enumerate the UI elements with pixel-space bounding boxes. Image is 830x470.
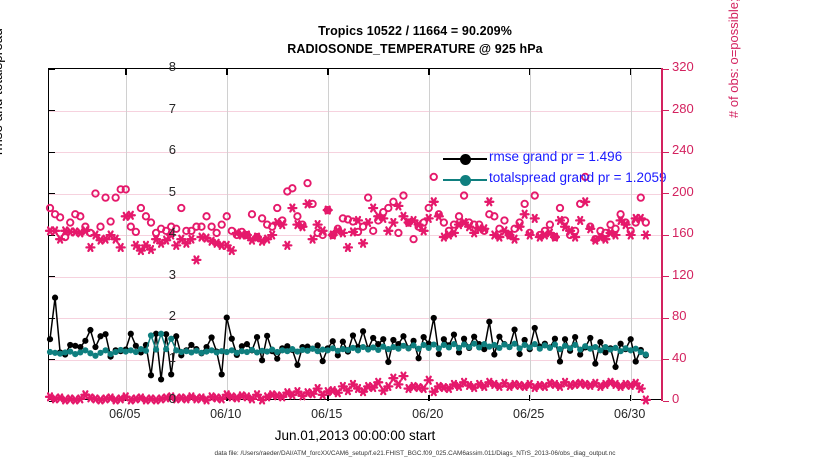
data-point <box>633 346 639 352</box>
obs-possible-marker <box>97 224 103 230</box>
data-point <box>451 332 457 338</box>
obs-possible-marker <box>370 228 376 234</box>
figure-canvas: Tropics 10522 / 11664 = 90.209% RADIOSON… <box>0 0 830 470</box>
data-point <box>572 342 578 348</box>
left-tick-label: 4 <box>169 226 176 239</box>
data-point <box>456 345 462 351</box>
data-point <box>431 341 437 347</box>
right-tick-label: 320 <box>672 60 694 73</box>
data-point <box>315 342 321 348</box>
obs-possible-marker <box>203 213 209 219</box>
obs-asterisk-marker <box>344 244 352 251</box>
data-point <box>380 336 386 342</box>
data-point <box>476 344 482 350</box>
legend-label-totalspread: totalspread grand pr = 1.2059 <box>489 170 667 185</box>
obs-asterisk-marker <box>112 236 120 243</box>
data-point <box>148 332 154 338</box>
obs-possible-marker <box>143 213 149 219</box>
data-point <box>87 327 93 333</box>
obs-asterisk-marker <box>430 198 438 205</box>
data-point <box>552 341 558 347</box>
data-point <box>496 345 502 351</box>
obs-asterisk-marker <box>283 242 291 249</box>
data-point <box>517 351 523 357</box>
data-point <box>355 347 361 353</box>
data-point <box>148 372 154 378</box>
obs-possible-marker <box>547 221 553 227</box>
obs-possible-marker <box>92 190 98 196</box>
data-point <box>77 344 83 350</box>
left-tick-label: 3 <box>169 268 176 281</box>
obs-possible-marker <box>643 219 649 225</box>
obs-possible-marker <box>274 205 280 211</box>
data-point <box>511 327 517 333</box>
obs-asterisk-marker <box>309 236 317 243</box>
right-tick-label: 0 <box>672 392 679 405</box>
obs-possible-marker <box>365 194 371 200</box>
right-tick-label: 80 <box>672 309 686 322</box>
data-point <box>567 345 573 351</box>
right-tick-label: 40 <box>672 351 686 364</box>
data-point <box>158 331 164 337</box>
data-point <box>350 332 356 338</box>
data-point <box>532 325 538 331</box>
obs-possible-marker <box>249 211 255 217</box>
data-series-layer <box>49 69 663 401</box>
data-point <box>92 344 98 350</box>
data-point <box>506 344 512 350</box>
left-axis-title: rmse and totalspread <box>0 28 5 155</box>
data-point <box>557 346 563 352</box>
obs-possible-marker <box>107 218 113 224</box>
data-point <box>491 351 497 357</box>
data-point <box>592 361 598 367</box>
right-tick <box>663 69 669 70</box>
obs-asterisk-marker <box>187 236 195 243</box>
obs-possible-marker <box>138 205 144 211</box>
obs-possible-marker <box>461 192 467 198</box>
data-point <box>612 345 618 351</box>
data-point <box>436 351 442 357</box>
bottom-tick-label: 06/30 <box>595 408 665 421</box>
obs-asterisk-marker <box>384 383 392 390</box>
data-point <box>471 341 477 347</box>
series-assimilated <box>46 198 650 263</box>
data-point <box>587 335 593 341</box>
data-point <box>102 347 108 353</box>
obs-possible-marker <box>385 205 391 211</box>
obs-asterisk-marker <box>359 240 367 247</box>
bottom-tick-label: 06/05 <box>90 408 160 421</box>
data-point <box>102 331 108 337</box>
data-point <box>461 336 467 342</box>
bottom-tick-label: 06/15 <box>292 408 362 421</box>
plot-area: rmse grand pr = 1.496 totalspread grand … <box>48 68 662 400</box>
data-point <box>426 345 432 351</box>
obs-possible-marker <box>224 213 230 219</box>
obs-possible-marker <box>47 205 53 211</box>
data-point <box>82 338 88 344</box>
legend-marker-totalspread <box>460 175 471 186</box>
obs-asterisk-marker <box>521 211 529 218</box>
right-tick <box>663 193 669 194</box>
obs-possible-marker <box>410 236 416 242</box>
data-point <box>208 334 214 340</box>
data-point <box>446 344 452 350</box>
data-point <box>168 336 174 342</box>
left-tick-label: 0 <box>169 392 176 405</box>
data-point <box>511 341 517 347</box>
left-tick-label: 6 <box>169 143 176 156</box>
obs-possible-marker <box>57 214 63 220</box>
data-point <box>557 358 563 364</box>
data-point <box>244 341 250 347</box>
obs-possible-marker <box>102 194 108 200</box>
data-point <box>643 351 649 357</box>
data-point <box>158 376 164 382</box>
obs-possible-marker <box>390 199 396 205</box>
legend-label-rmse: rmse grand pr = 1.496 <box>489 149 622 164</box>
legend-marker-rmse <box>460 154 471 165</box>
obs-asterisk-marker <box>288 205 296 212</box>
obs-asterisk-marker <box>268 232 276 239</box>
data-point <box>400 333 406 339</box>
data-point <box>360 328 366 334</box>
data-point <box>597 347 603 353</box>
data-point <box>612 364 618 370</box>
data-point <box>633 358 639 364</box>
data-point <box>496 334 502 340</box>
data-point <box>562 336 568 342</box>
right-tick <box>663 235 669 236</box>
right-tick-label: 240 <box>672 143 694 156</box>
data-point <box>537 346 543 352</box>
data-point <box>385 359 391 365</box>
left-tick-label: 7 <box>169 102 176 115</box>
right-tick <box>663 110 669 111</box>
data-point <box>254 334 260 340</box>
data-point <box>572 334 578 340</box>
data-point <box>527 344 533 350</box>
chart-title-line2: RADIOSONDE_TEMPERATURE @ 925 hPa <box>0 42 830 56</box>
data-point <box>517 345 523 351</box>
data-point <box>597 339 603 345</box>
data-point <box>451 341 457 347</box>
data-point <box>617 341 623 347</box>
obs-possible-marker <box>213 230 219 236</box>
obs-asterisk-marker <box>384 227 392 234</box>
left-tick-label: 2 <box>169 309 176 322</box>
right-axis-spine <box>661 68 663 401</box>
obs-possible-marker <box>521 201 527 207</box>
data-point <box>168 371 174 377</box>
data-point <box>441 336 447 342</box>
right-tick-label: 120 <box>672 268 694 281</box>
bottom-axis-title: Jun.01,2013 00:00:00 start <box>48 428 662 443</box>
chart-title-line1: Tropics 10522 / 11664 = 90.209% <box>0 24 830 38</box>
data-point <box>320 358 326 364</box>
data-point <box>471 334 477 340</box>
left-tick-label: 5 <box>169 185 176 198</box>
right-axis-title: # of obs: o=possible; x=assimilated <box>726 0 741 118</box>
data-point <box>259 357 265 363</box>
data-point <box>264 333 270 339</box>
obs-possible-marker <box>148 219 154 225</box>
obs-asterisk-marker <box>86 244 94 251</box>
obs-asterisk-marker <box>117 244 125 251</box>
figure-footer: data file: /Users/raeder/DAI/ATM_forcXX/… <box>0 450 830 457</box>
right-tick <box>663 359 669 360</box>
obs-asterisk-marker <box>192 256 200 263</box>
data-point <box>188 342 194 348</box>
obs-possible-marker <box>501 217 507 223</box>
right-tick <box>663 318 669 319</box>
right-tick <box>663 401 669 402</box>
data-point <box>592 344 598 350</box>
right-tick-label: 200 <box>672 185 694 198</box>
obs-asterisk-marker <box>576 217 584 224</box>
data-point <box>330 338 336 344</box>
data-point <box>340 339 346 345</box>
data-point <box>532 341 538 347</box>
obs-possible-marker <box>133 229 139 235</box>
data-point <box>390 337 396 343</box>
obs-asterisk-marker <box>399 373 407 380</box>
data-point <box>375 347 381 353</box>
obs-possible-marker <box>208 224 214 230</box>
data-point <box>370 335 376 341</box>
obs-asterisk-marker <box>147 246 155 253</box>
data-point <box>410 342 416 348</box>
obs-asterisk-marker <box>642 232 650 239</box>
series-rmse <box>47 295 649 383</box>
obs-possible-marker <box>395 230 401 236</box>
right-tick <box>663 276 669 277</box>
data-point <box>486 319 492 325</box>
obs-possible-marker <box>67 219 73 225</box>
data-point <box>421 334 427 340</box>
data-point <box>229 336 235 342</box>
data-point <box>219 371 225 377</box>
obs-possible-marker <box>178 205 184 211</box>
data-point <box>628 336 634 342</box>
obs-possible-marker <box>218 221 224 227</box>
data-point <box>416 355 422 361</box>
data-point <box>436 345 442 351</box>
data-point <box>224 314 230 320</box>
right-tick-label: 160 <box>672 226 694 239</box>
data-point <box>547 345 553 351</box>
obs-asterisk-marker <box>485 198 493 205</box>
obs-asterisk-marker <box>389 219 397 226</box>
data-point <box>52 295 58 301</box>
obs-possible-marker <box>431 174 437 180</box>
obs-possible-marker <box>304 180 310 186</box>
obs-asterisk-marker <box>425 377 433 384</box>
obs-possible-marker <box>638 194 644 200</box>
obs-asterisk-marker <box>531 215 539 222</box>
data-point <box>416 346 422 352</box>
series-rejected-low <box>46 373 650 404</box>
data-point <box>274 356 280 362</box>
obs-possible-marker <box>259 215 265 221</box>
data-point <box>577 346 583 352</box>
data-point <box>128 331 134 337</box>
obs-possible-marker <box>400 192 406 198</box>
bottom-tick-label: 06/25 <box>494 408 564 421</box>
obs-possible-marker <box>289 185 295 191</box>
obs-asterisk-marker <box>642 396 650 403</box>
data-point <box>143 348 149 354</box>
data-point <box>294 362 300 368</box>
data-point <box>431 315 437 321</box>
obs-possible-marker <box>532 192 538 198</box>
obs-possible-marker <box>557 205 563 211</box>
obs-possible-marker <box>294 213 300 219</box>
data-point <box>153 346 159 352</box>
bottom-tick-label: 06/10 <box>191 408 261 421</box>
left-tick-label: 1 <box>169 351 176 364</box>
obs-asterisk-marker <box>369 205 377 212</box>
data-point <box>133 343 139 349</box>
left-tick-label: 8 <box>169 60 176 73</box>
right-tick-label: 280 <box>672 102 694 115</box>
bottom-tick-label: 06/20 <box>393 408 463 421</box>
data-point <box>552 336 558 342</box>
obs-possible-marker <box>112 194 118 200</box>
data-point <box>47 336 53 342</box>
